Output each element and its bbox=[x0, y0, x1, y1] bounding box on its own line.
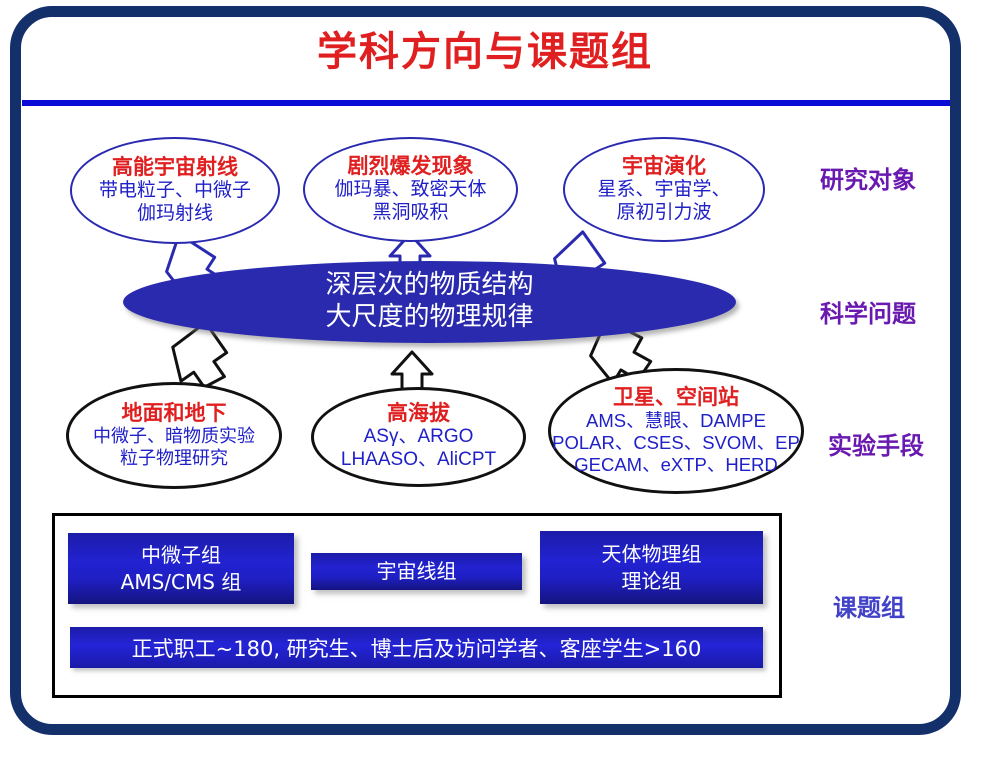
ellipse-high-energy-cosmic-rays[interactable]: 高能宇宙射线 带电粒子、中微子 伽玛射线 bbox=[70, 137, 280, 244]
ellipse-line-1: 中微子、暗物质实验 bbox=[93, 426, 255, 448]
ellipse-line-2: 黑洞吸积 bbox=[372, 202, 448, 225]
ellipse-line-2: 粒子物理研究 bbox=[120, 448, 228, 470]
core-science-question-ellipse[interactable]: 深层次的物质结构 大尺度的物理规律 bbox=[123, 261, 736, 343]
core-line-2: 大尺度的物理规律 bbox=[325, 302, 533, 334]
group-line-2: 理论组 bbox=[622, 568, 682, 595]
ellipse-line-1: 带电粒子、中微子 bbox=[99, 180, 251, 203]
ellipse-cosmic-evolution[interactable]: 宇宙演化 星系、宇宙学、 原初引力波 bbox=[563, 137, 765, 242]
ellipse-line-2: POLAR、CSES、SVOM、EP bbox=[552, 432, 800, 454]
page-title: 学科方向与课题组 bbox=[30, 30, 940, 74]
ellipse-title: 宇宙演化 bbox=[622, 155, 706, 179]
ellipse-line-2: LHAASO、AliCPT bbox=[341, 449, 496, 472]
side-label-research-groups: 课题组 bbox=[833, 588, 905, 623]
side-label-research-objects: 研究对象 bbox=[820, 160, 916, 195]
ellipse-line-3: GECAM、eXTP、HERD bbox=[574, 454, 778, 476]
ellipse-line-2: 伽玛射线 bbox=[137, 203, 213, 226]
ellipse-line-1: AMS、慧眼、DAMPE bbox=[586, 410, 766, 432]
group-box-cosmic-ray[interactable]: 宇宙线组 bbox=[311, 553, 522, 590]
ellipse-line-1: 伽玛暴、致密天体 bbox=[334, 179, 486, 202]
group-box-neutrino[interactable]: 中微子组 AMS/CMS 组 bbox=[68, 533, 294, 604]
ellipse-satellites-space-station[interactable]: 卫星、空间站 AMS、慧眼、DAMPE POLAR、CSES、SVOM、EP G… bbox=[548, 368, 804, 494]
ellipse-title: 地面和地下 bbox=[122, 402, 227, 426]
ellipse-title: 剧烈爆发现象 bbox=[348, 155, 474, 179]
ellipse-high-altitude[interactable]: 高海拔 ASγ、ARGO LHAASO、AliCPT bbox=[311, 387, 526, 487]
group-box-astrophysics[interactable]: 天体物理组 理论组 bbox=[540, 531, 763, 604]
core-line-1: 深层次的物质结构 bbox=[325, 270, 533, 302]
ellipse-ground-and-underground[interactable]: 地面和地下 中微子、暗物质实验 粒子物理研究 bbox=[66, 382, 282, 489]
slide-canvas: 学科方向与课题组 bbox=[0, 0, 999, 759]
group-line-1: 中微子组 bbox=[141, 542, 221, 569]
ellipse-title: 高海拔 bbox=[387, 402, 450, 426]
ellipse-title: 卫星、空间站 bbox=[613, 386, 739, 410]
side-label-science-questions: 科学问题 bbox=[820, 294, 916, 329]
group-line-2: AMS/CMS 组 bbox=[121, 569, 242, 596]
side-label-experimental-methods: 实验手段 bbox=[828, 426, 924, 461]
staff-count-bar[interactable]: 正式职工~180, 研究生、博士后及访问学者、客座学生>160 bbox=[70, 627, 763, 668]
ellipse-line-2: 原初引力波 bbox=[616, 202, 711, 225]
group-line-1: 宇宙线组 bbox=[377, 558, 457, 585]
ellipse-line-1: 星系、宇宙学、 bbox=[597, 179, 730, 202]
ellipse-violent-explosions[interactable]: 剧烈爆发现象 伽玛暴、致密天体 黑洞吸积 bbox=[303, 137, 518, 242]
group-line-1: 天体物理组 bbox=[602, 541, 702, 568]
title-divider bbox=[22, 100, 950, 106]
ellipse-title: 高能宇宙射线 bbox=[112, 156, 238, 180]
ellipse-line-1: ASγ、ARGO bbox=[364, 426, 474, 449]
